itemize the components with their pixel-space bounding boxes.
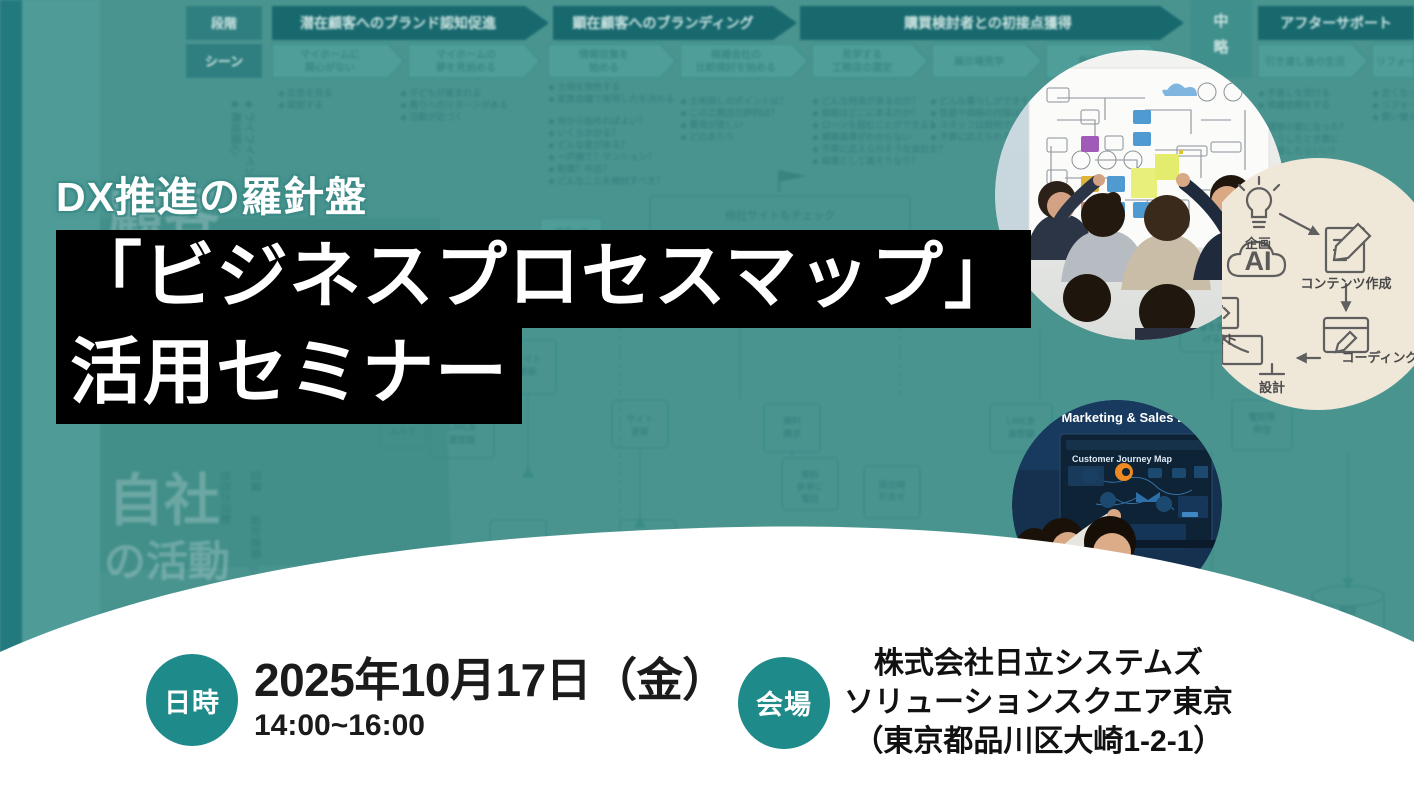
date-time: 14:00~16:00 (254, 707, 728, 745)
seminar-poster: 段階 シーン 潜在顧客へのブランド認知促進 顕在顧客へのブランディング 購買検討… (0, 0, 1414, 802)
svg-text:◆ いくらかかる？: ◆ いくらかかる？ (548, 128, 620, 138)
poster-title: 「ビジネスプロセスマップ」 活用セミナー (56, 230, 1031, 424)
svg-text:◆ どんな特長があるのか？: ◆ どんな特長があるのか？ (812, 95, 920, 106)
svg-text:ける: ける (1203, 334, 1221, 344)
venue-line-3: （東京都品川区大崎1-2-1） (844, 722, 1233, 761)
svg-text:達登録: 達登録 (448, 434, 476, 445)
title-row-2: 活用セミナー (56, 328, 1031, 424)
poster-subtitle: DX推進の羅針盤 (56, 176, 1031, 219)
svg-text:◆ どんな家がある？: ◆ どんな家がある？ (548, 139, 629, 150)
svg-text:◆ 買い替える: ◆ 買い替える (1372, 111, 1414, 122)
venue-text-block: 株式会社日立システムズ ソリューションスクエア東京 （東京都品川区大崎1-2-1… (844, 644, 1233, 761)
svg-text:関心がない: 関心がない (305, 61, 355, 74)
ai-cloud-label: AI (1245, 246, 1272, 276)
svg-text:◆ この工務店の評判は？: ◆ この工務店の評判は？ (680, 107, 779, 118)
svg-text:◆ 手直しを受ける: ◆ 手直しを受ける (1258, 87, 1330, 98)
svg-text:情報収集を: 情報収集を (579, 48, 629, 61)
svg-text:マイホームの: マイホームの (436, 49, 496, 61)
dx-step-label-test: テスト (1222, 332, 1238, 347)
svg-text:展示場見学: 展示場見学 (954, 55, 1004, 68)
svg-text:営業: 営業 (249, 470, 263, 493)
svg-text:提出時: 提出時 (878, 479, 905, 490)
svg-text:夢を見始める: 夢を見始める (436, 61, 496, 74)
svg-text:◆ 相場として高そうなり？: ◆ 相場として高そうなり？ (812, 155, 920, 166)
svg-text:◆ ローンを組むことができる？: ◆ ローンを組むことができる？ (812, 119, 938, 130)
dx-cycle-diagram: 企画 コンテンツ作成 コーディング 設計 テスト AI (1222, 158, 1414, 410)
svg-text:工務店の選定: 工務店の選定 (832, 61, 892, 74)
svg-text:資料: 資料 (801, 469, 819, 480)
dx-step-label-content: コンテンツ作成 (1300, 276, 1391, 291)
svg-text:◆ 何から始めればよい？: ◆ 何から始めればよい？ (548, 115, 647, 126)
svg-text:見学する: 見学する (841, 48, 882, 61)
svg-text:リフォー: リフォー (1376, 56, 1414, 68)
dashboard-heading: Marketing & Sales D (1062, 410, 1187, 425)
svg-text:アフターサポート: アフターサポート (1280, 15, 1392, 31)
svg-text:顕在顧客へのブランディング: 顕在顧客へのブランディング (572, 15, 753, 31)
svg-text:始める: 始める (589, 61, 619, 74)
svg-text:◆ 性能や価格の内容は？: ◆ 性能や価格の内容は？ (930, 107, 1029, 118)
title-row-1: 「ビジネスプロセスマップ」 (56, 230, 1031, 328)
svg-text:◆ 費用が欲しい: ◆ 費用が欲しい (680, 119, 743, 130)
svg-text:シーン: シーン (205, 54, 243, 69)
title-line-1: 「ビジネスプロセスマップ」 (56, 230, 1031, 328)
svg-text:引合せ: 引合せ (878, 491, 905, 502)
svg-text:◆ 理想の家になった？: ◆ 理想の家になった？ (1258, 121, 1348, 132)
svg-text:◆ 古くなった: ◆ 古くなった (1372, 87, 1414, 98)
svg-text:◆ 興味関心: ◆ 興味関心 (229, 100, 243, 156)
venue-line-1: 株式会社日立システムズ (844, 644, 1233, 683)
svg-text:比較検討を始める: 比較検討を始める (696, 61, 776, 74)
svg-text:◆ どのあたり: ◆ どのあたり (680, 131, 734, 142)
svg-text:更新: 更新 (631, 426, 649, 437)
svg-text:請求: 請求 (783, 428, 802, 439)
svg-text:発信: 発信 (1252, 424, 1271, 435)
svg-text:段階: 段階 (211, 16, 237, 31)
dashboard-screen-title: Customer Journey Map (1072, 454, 1173, 464)
svg-text:ムルマ: ムルマ (389, 426, 416, 436)
svg-text:電話等: 電話等 (1248, 411, 1275, 422)
svg-text:◆ 新築？中古？: ◆ 新築？中古？ (548, 163, 611, 174)
dx-step-label-sekkei: 設計 (1259, 380, 1285, 395)
headline-block: DX推進の羅針盤 「ビジネスプロセスマップ」 活用セミナー (56, 176, 1031, 424)
svg-text:中: 中 (1213, 12, 1228, 30)
title-line-2: 活用セミナー (56, 328, 522, 424)
svg-text:マイホームに: マイホームに (300, 49, 360, 61)
date-main: 2025年10月17日（金） (254, 656, 728, 705)
svg-text:略: 略 (1213, 38, 1229, 56)
svg-text:◆ 価格はどこにあるのか？: ◆ 価格はどこにあるのか？ (812, 107, 920, 118)
svg-text:達登録: 達登録 (1007, 428, 1035, 439)
svg-text:◆ 周りへのリターンがある: ◆ 周りへのリターンがある (400, 99, 508, 110)
svg-text:潜在顧客へのブランド認知促進: 潜在顧客へのブランド認知促進 (300, 15, 496, 31)
svg-text:◆ 修繕依頼をする: ◆ 修繕依頼をする (1258, 99, 1330, 110)
svg-text:引き渡し後の生活: 引き渡し後の生活 (1265, 55, 1345, 68)
venue-badge: 会場 (738, 657, 830, 749)
svg-text:◆ 子どもが産まれる: ◆ 子どもが産まれる (400, 87, 481, 98)
date-badge: 日時 (146, 654, 238, 746)
svg-text:◆ 土地を物色する: ◆ 土地を物色する (548, 81, 620, 92)
svg-text:◆ 家族会議で実現したを決める: ◆ 家族会議で実現したを決める (548, 93, 674, 104)
date-info-group: 日時 2025年10月17日（金） 14:00~16:00 (146, 654, 728, 746)
svg-text:◆ 一戸建て？マンション？: ◆ 一戸建て？マンション？ (548, 151, 656, 162)
venue-line-2: ソリューションスクエア東京 (844, 683, 1233, 722)
dx-step-label-coding: コーディング (1341, 350, 1414, 365)
svg-text:◆ 広告を見る: ◆ 広告を見る (278, 87, 332, 98)
svg-text:参考に: 参考に (796, 481, 823, 492)
svg-text:◆ リフォーム: ◆ リフォーム (1372, 100, 1414, 110)
svg-text:◆ 土地探しのポイントは？: ◆ 土地探しのポイントは？ (680, 95, 788, 106)
svg-text:◆ 認知する: ◆ 認知する (278, 99, 323, 110)
venue-info-group: 会場 株式会社日立システムズ ソリューションスクエア東京 （東京都品川区大崎1-… (738, 644, 1233, 761)
svg-text:◆ 建築基準がわからない: ◆ 建築基準がわからない (812, 131, 911, 142)
svg-text:購買検討者との初接点獲得: 購買検討者との初接点獲得 (903, 15, 1072, 31)
svg-text:◆ 活動が近づく: ◆ 活動が近づく (400, 111, 463, 122)
footer-info: 日時 2025年10月17日（金） 14:00~16:00 会場 株式会社日立シ… (0, 632, 1414, 802)
svg-text:候補会社の: 候補会社の (711, 48, 761, 61)
date-text-block: 2025年10月17日（金） 14:00~16:00 (254, 656, 728, 744)
svg-text:◆ 予算に応えられそうな会社を？: ◆ 予算に応えられそうな会社を？ (812, 143, 947, 154)
